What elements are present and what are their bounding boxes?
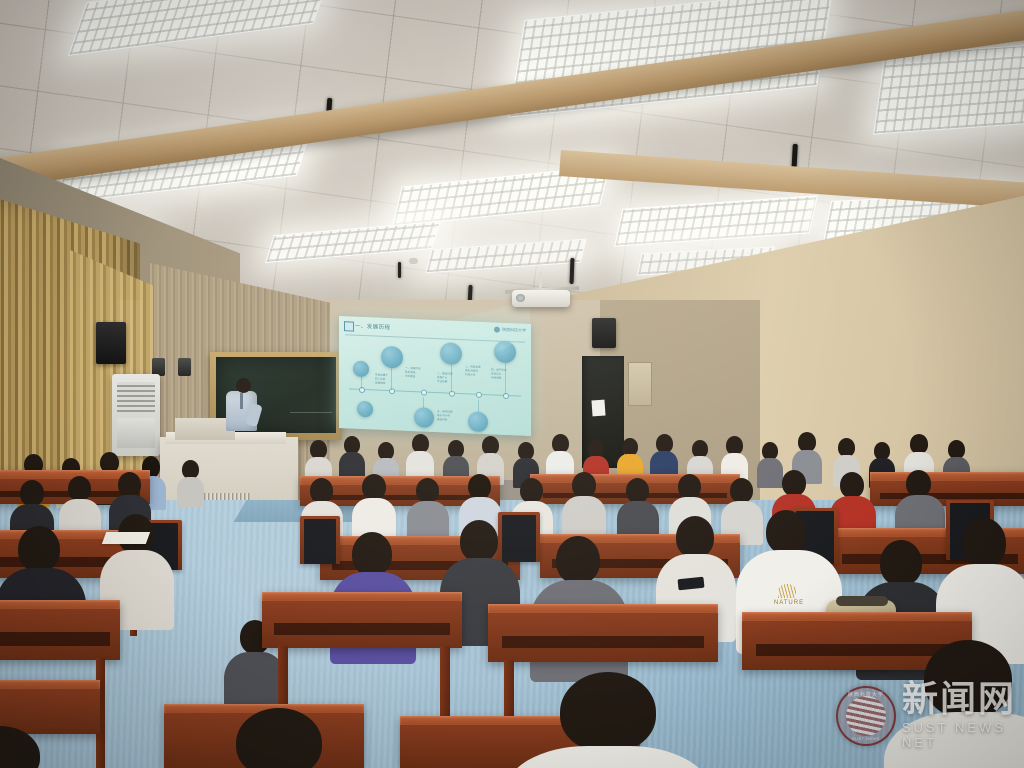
timeline-node <box>440 342 462 365</box>
chalk-mark <box>290 412 332 413</box>
timeline-node <box>353 361 369 378</box>
student-desk <box>262 592 462 648</box>
slide-logo: 陕西科技大学 <box>494 326 526 333</box>
door-notice-sheet <box>591 400 605 417</box>
timeline-caption: 三、转型发展 更名为陕西 科技大学 <box>465 365 489 378</box>
student-desk <box>0 600 120 660</box>
slide-title: 一、发展历程 <box>355 322 390 331</box>
timeline-node <box>494 340 516 363</box>
smoke-detector-icon <box>409 258 418 264</box>
projector-lens-icon <box>516 294 525 302</box>
timeline-caption: 四、提升阶段 综合实力 持续增强 <box>491 368 521 381</box>
open-notebook <box>102 532 150 544</box>
ac-grille <box>117 382 155 412</box>
timeline-node <box>357 401 373 418</box>
timeline-caption: 一、发展阶段 稳步推进 学科建设 <box>405 367 427 380</box>
timeline-caption: 学校创建于 轻工业部 直属院校 <box>375 373 397 386</box>
tshirt-graphic <box>778 584 796 598</box>
student-desk <box>488 604 718 662</box>
timeline-axis <box>349 388 521 396</box>
wall-speaker-icon <box>96 322 126 364</box>
timeline-dot <box>449 391 455 397</box>
wall-speaker-icon <box>178 358 191 376</box>
ceiling-hanger-rod <box>398 262 401 278</box>
slide-logo-mark <box>494 326 500 332</box>
presenter-shirt-placket <box>240 393 243 409</box>
projection-screen: 一、发展历程 陕西科技大学 学校创建于 轻工业部 直属院校 一、发 <box>339 316 531 436</box>
tshirt-print: NATURE <box>758 600 820 606</box>
timeline-dot <box>503 393 509 399</box>
timeline-caption: 二、建设时期 规模扩大 专业拓展 <box>437 372 459 385</box>
timeline-dot <box>389 388 395 394</box>
timeline-node <box>381 346 403 369</box>
wall-control-panel[interactable] <box>628 362 652 406</box>
timeline-dot <box>421 389 427 395</box>
slide-title-icon <box>344 321 354 331</box>
timeline-dot <box>476 392 482 398</box>
timeline-caption: 五、新的征程 高水平大学 建设目标 <box>437 410 467 423</box>
timeline-dot <box>359 387 365 393</box>
wall-speaker-icon <box>592 318 616 348</box>
timeline-stem <box>361 375 362 389</box>
backpack-strap <box>836 596 888 606</box>
student-desk <box>0 680 100 734</box>
lecture-hall-photo: 一、发展历程 陕西科技大学 学校创建于 轻工业部 直属院校 一、发 <box>0 0 1024 768</box>
presenter-head <box>236 378 251 393</box>
slide-logo-text: 陕西科技大学 <box>502 327 526 334</box>
